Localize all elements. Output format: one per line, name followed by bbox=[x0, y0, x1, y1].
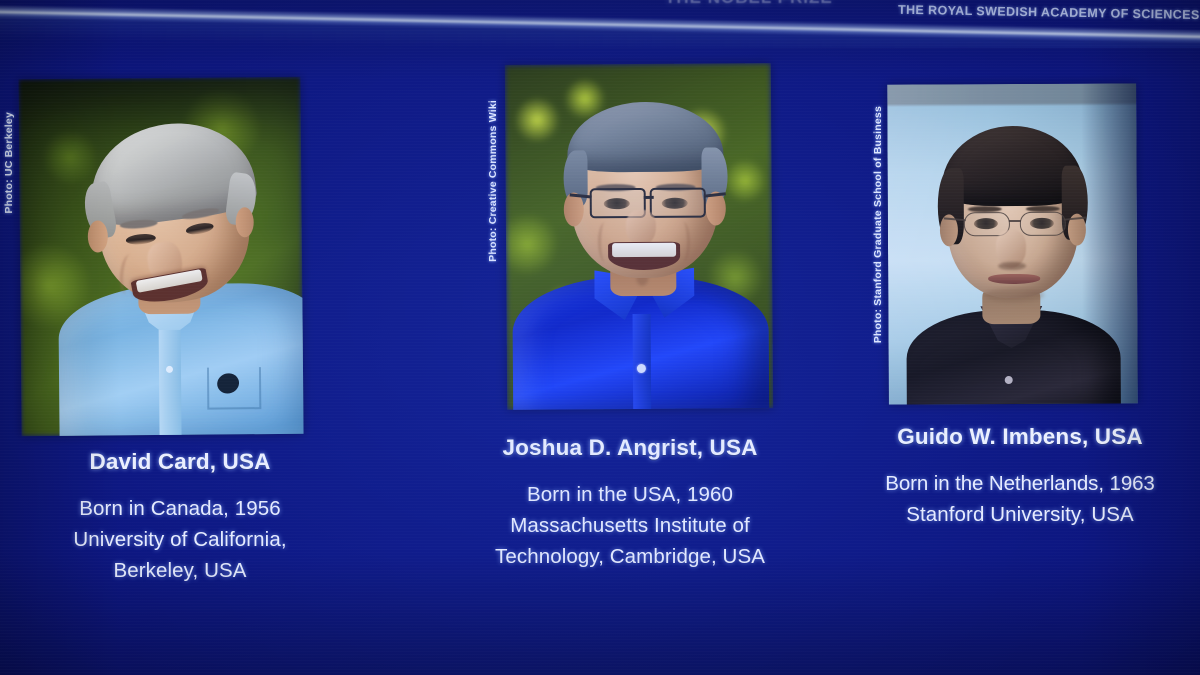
laureate-bio: Born in the Netherlands, 1963 Stanford U… bbox=[840, 468, 1200, 530]
portrait-teeth bbox=[612, 243, 676, 257]
laureate-name: Joshua D. Angrist, USA bbox=[430, 435, 830, 461]
glasses-bridge bbox=[1009, 220, 1021, 222]
portrait-ear-left bbox=[88, 220, 108, 252]
portrait-smile-line-right bbox=[676, 222, 690, 262]
portrait-shirt-placket bbox=[159, 330, 182, 436]
bio-line-affiliation-2: Berkeley, USA bbox=[0, 555, 360, 586]
portrait-photo-guido-imbens bbox=[887, 83, 1138, 404]
laureate-name: Guido W. Imbens, USA bbox=[840, 424, 1200, 450]
laureate-bio: Born in the USA, 1960 Massachusetts Inst… bbox=[430, 479, 830, 572]
photo-wrap-guido-imbens: Photo: Stanford Graduate School of Busin… bbox=[840, 52, 1200, 372]
portrait-smile-line-left bbox=[598, 222, 612, 262]
portrait-ear-left bbox=[564, 192, 584, 226]
bio-line-born: Born in Canada, 1956 bbox=[0, 493, 360, 524]
portrait-shirt-button bbox=[166, 366, 173, 373]
presentation-slide: THE NOBEL PRIZE THE ROYAL SWEDISH ACADEM… bbox=[0, 0, 1200, 675]
portrait-photo-david-card bbox=[18, 77, 303, 436]
laureate-bio: Born in Canada, 1956 University of Calif… bbox=[0, 493, 360, 586]
photo-credit-label: Photo: Creative Commons Wiki bbox=[487, 100, 499, 262]
bio-line-born: Born in the Netherlands, 1963 bbox=[840, 468, 1200, 499]
portrait-polo-button bbox=[637, 364, 646, 373]
bio-line-affiliation-1: Stanford University, USA bbox=[840, 499, 1200, 530]
laureate-name: David Card, USA bbox=[0, 449, 360, 475]
glasses-lens-right bbox=[650, 188, 706, 218]
bio-line-born: Born in the USA, 1960 bbox=[430, 479, 830, 510]
portrait-photo-joshua-angrist bbox=[505, 63, 773, 410]
photo-credit-label: Photo: UC Berkeley bbox=[3, 112, 15, 214]
laureate-card-david-card: Photo: UC Berkeley bbox=[0, 52, 360, 409]
photo-wrap-joshua-angrist: Photo: Creative Commons Wiki bbox=[430, 52, 830, 397]
nameplate-guido-imbens: Guido W. Imbens, USA Born in the Netherl… bbox=[840, 424, 1200, 530]
portrait-ear-right bbox=[236, 207, 254, 237]
photo-wrap-david-card: Photo: UC Berkeley bbox=[0, 52, 360, 409]
portrait-polo-placket bbox=[633, 314, 652, 410]
glasses-bridge bbox=[644, 196, 654, 199]
bio-line-affiliation-1: Massachusetts Institute of bbox=[430, 510, 830, 541]
nameplate-david-card: David Card, USA Born in Canada, 1956 Uni… bbox=[0, 449, 360, 586]
laureates-row: Photo: UC Berkeley bbox=[0, 0, 1200, 675]
bio-line-affiliation-2: Technology, Cambridge, USA bbox=[430, 541, 830, 572]
nameplate-joshua-angrist: Joshua D. Angrist, USA Born in the USA, … bbox=[430, 435, 830, 572]
photo-credit-label: Photo: Stanford Graduate School of Busin… bbox=[872, 106, 884, 343]
bio-line-affiliation-1: University of California, bbox=[0, 524, 360, 555]
portrait-shirt-button bbox=[1005, 376, 1013, 384]
portrait-nose bbox=[626, 210, 656, 246]
laureate-card-joshua-angrist: Photo: Creative Commons Wiki bbox=[430, 52, 830, 397]
laureate-card-guido-imbens: Photo: Stanford Graduate School of Busin… bbox=[840, 52, 1200, 372]
glasses-lens-right bbox=[1020, 212, 1066, 236]
